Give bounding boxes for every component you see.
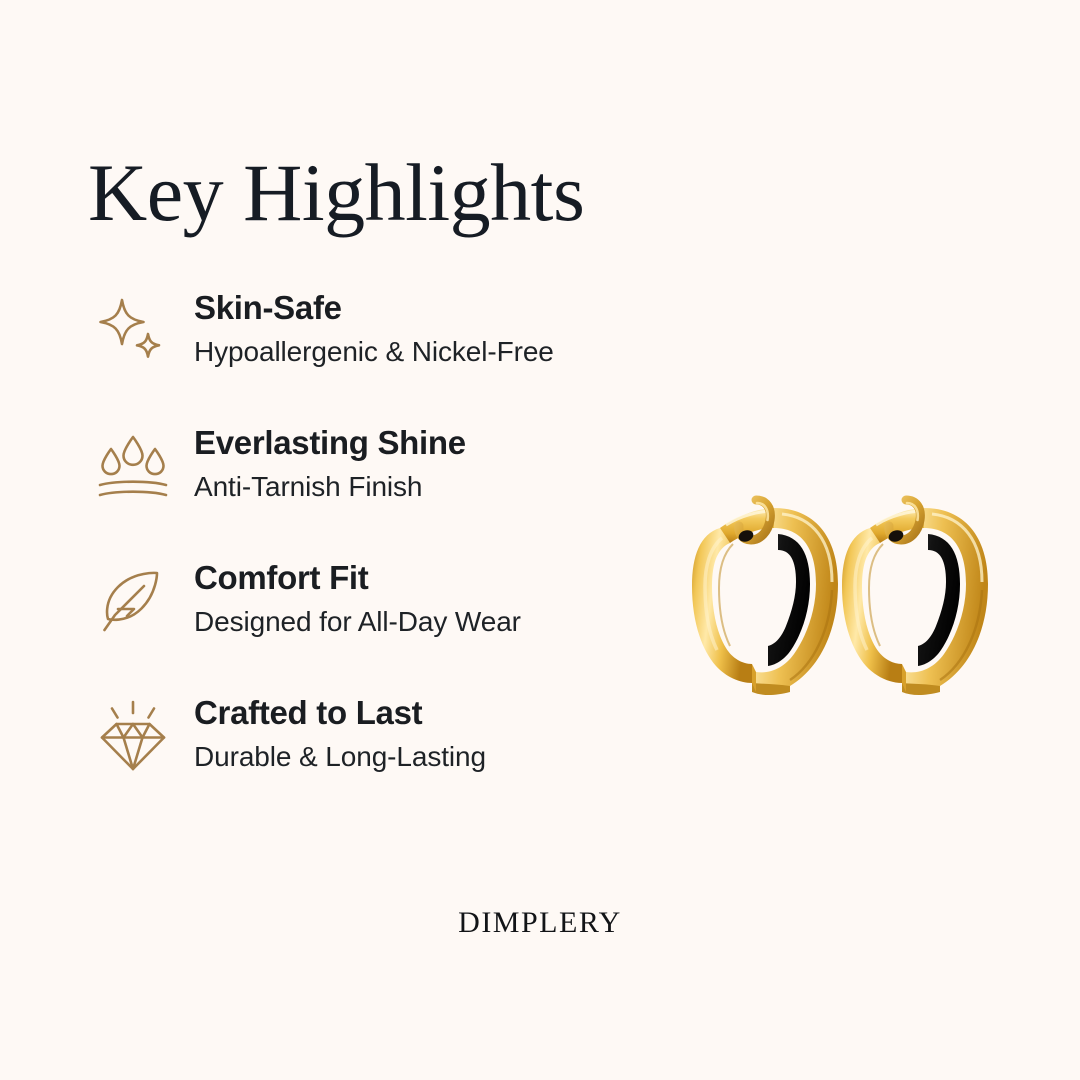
product-image-gold-hoop-earrings <box>600 400 1020 700</box>
water-droplets-icon <box>96 423 184 503</box>
diamond-icon <box>96 693 184 773</box>
feature-subtitle: Durable & Long-Lasting <box>194 739 676 775</box>
feature-text: Crafted to Last Durable & Long-Lasting <box>184 693 676 776</box>
page-title: Key Highlights <box>88 152 584 234</box>
feature-item-comfort-fit: Comfort Fit Designed for All-Day Wear <box>96 558 676 693</box>
sparkle-icon <box>96 288 184 368</box>
feature-text: Skin-Safe Hypoallergenic & Nickel-Free <box>184 288 676 371</box>
earring-left <box>692 500 838 695</box>
brand-logo: DIMPLERY <box>0 906 1080 940</box>
feature-item-crafted-to-last: Crafted to Last Durable & Long-Lasting <box>96 693 676 828</box>
feature-title: Skin-Safe <box>194 288 676 328</box>
feature-subtitle: Hypoallergenic & Nickel-Free <box>194 334 676 370</box>
earring-right <box>842 500 988 695</box>
feature-item-skin-safe: Skin-Safe Hypoallergenic & Nickel-Free <box>96 288 676 423</box>
feature-list: Skin-Safe Hypoallergenic & Nickel-Free <box>96 288 676 828</box>
feather-icon <box>96 558 184 638</box>
infographic-canvas: Key Highlights Skin-Safe Hypoallergenic … <box>0 0 1080 1080</box>
feature-item-everlasting-shine: Everlasting Shine Anti-Tarnish Finish <box>96 423 676 558</box>
